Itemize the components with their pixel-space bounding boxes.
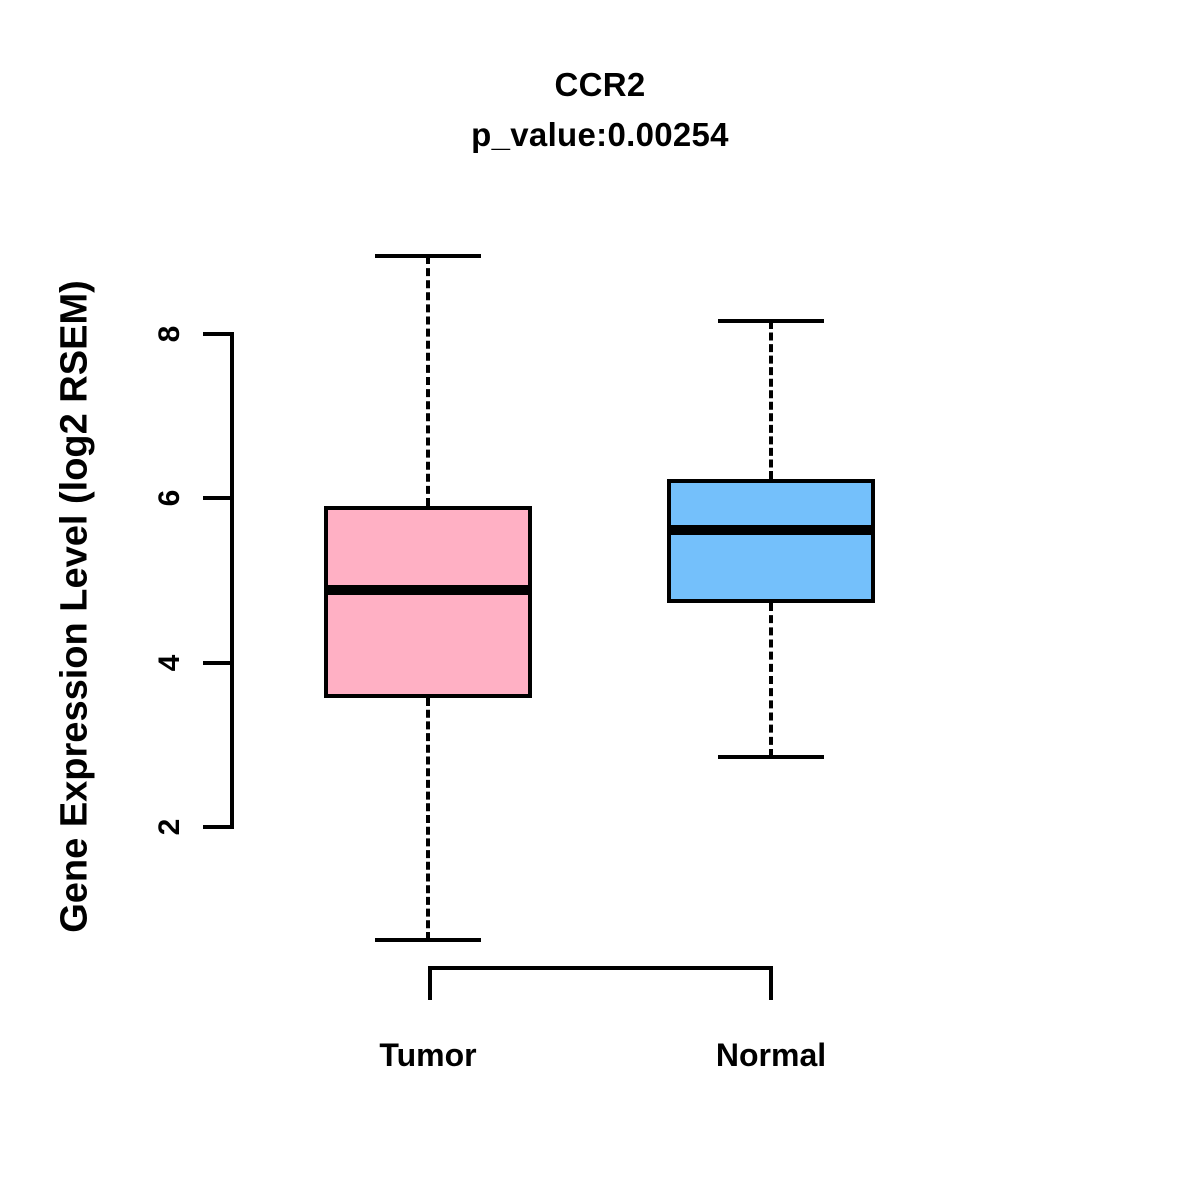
tumor-lower-whisker-cap xyxy=(375,938,481,942)
tumor-lower-whisker xyxy=(426,698,430,940)
y-axis-tick-4 xyxy=(203,661,232,665)
y-axis-tick-6 xyxy=(203,496,232,500)
normal-upper-whisker xyxy=(769,321,773,480)
normal-lower-whisker-cap xyxy=(718,755,824,759)
y-axis-tick-label-8: 8 xyxy=(155,304,185,364)
x-axis-tick-tumor xyxy=(428,966,432,1000)
tumor-upper-whisker xyxy=(426,256,430,506)
normal-median-line xyxy=(667,525,875,535)
y-axis-line xyxy=(230,332,234,829)
normal-box[interactable] xyxy=(667,479,875,602)
chart-subtitle-pvalue: p_value:0.00254 xyxy=(0,118,1200,151)
y-axis-tick-label-6: 6 xyxy=(155,468,185,528)
boxplot-figure: CCR2 p_value:0.00254 Gene Expression Lev… xyxy=(0,0,1200,1200)
x-axis-label-tumor: Tumor xyxy=(278,1037,578,1074)
normal-lower-whisker xyxy=(769,603,773,757)
normal-upper-whisker-cap xyxy=(718,319,824,323)
tumor-upper-whisker-cap xyxy=(375,254,481,258)
tumor-box[interactable] xyxy=(324,506,532,698)
x-axis-label-normal: Normal xyxy=(621,1037,921,1074)
x-axis-tick-normal xyxy=(769,966,773,1000)
y-axis-tick-label-4: 4 xyxy=(155,633,185,693)
y-axis-tick-8 xyxy=(203,332,232,336)
x-axis-line xyxy=(428,966,773,970)
y-axis-tick-label-2: 2 xyxy=(155,797,185,857)
y-axis-tick-2 xyxy=(203,825,232,829)
chart-title: CCR2 xyxy=(0,68,1200,101)
tumor-median-line xyxy=(324,585,532,595)
y-axis-label: Gene Expression Level (log2 RSEM) xyxy=(54,187,97,1027)
